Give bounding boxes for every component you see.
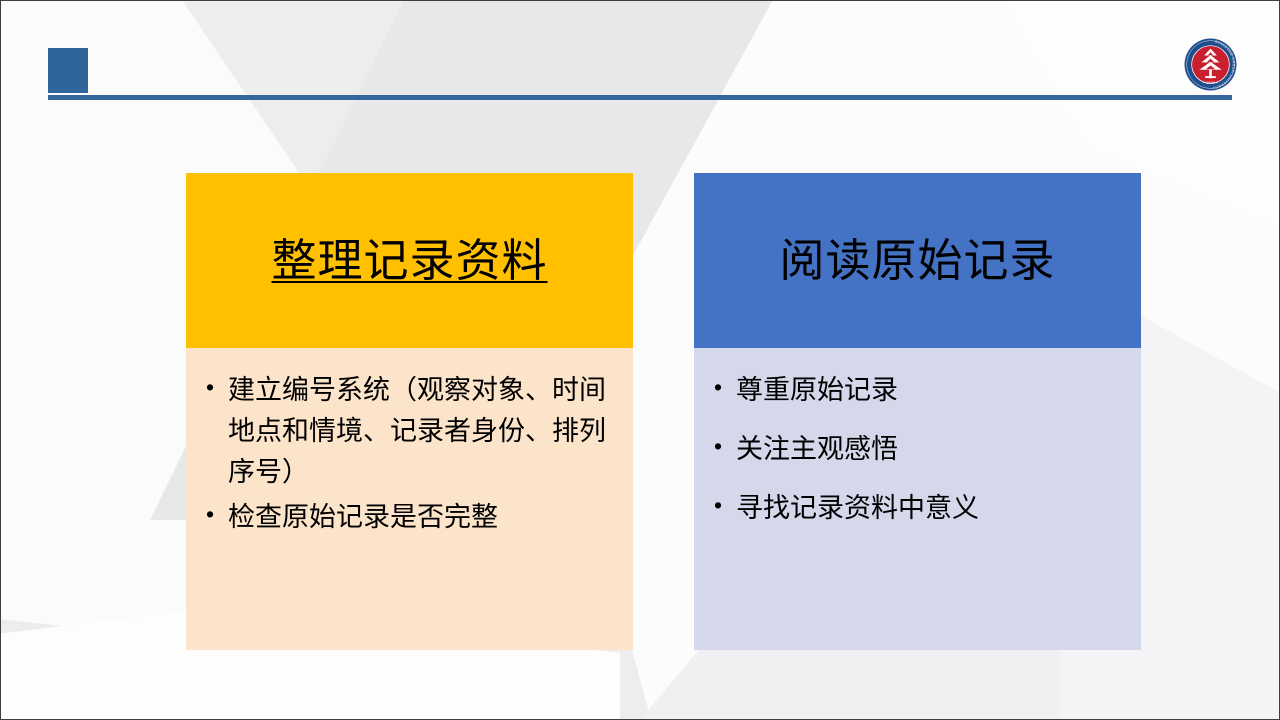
bullet-list-left: 建立编号系统（观察对象、时间地点和情境、记录者身份、排列序号） 检查原始记录是否… [200,370,619,538]
header-accent-square [48,48,88,93]
card-title-right: 阅读原始记录 [779,236,1055,286]
card-title-left: 整理记录资料 [271,236,547,286]
list-item: 寻找记录资料中意义 [708,488,1127,529]
card-read-raw-records: 阅读原始记录 尊重原始记录 关注主观感悟 寻找记录资料中意义 [694,173,1141,650]
card-body-left: 建立编号系统（观察对象、时间地点和情境、记录者身份、排列序号） 检查原始记录是否… [186,348,633,650]
card-header-right: 阅读原始记录 [694,173,1141,348]
list-item: 建立编号系统（观察对象、时间地点和情境、记录者身份、排列序号） [200,370,619,493]
presentation-slide: 1999 SHANDONG YINGCAI UNIVERSITY 整理记录资料 … [0,0,1280,720]
card-organize-records: 整理记录资料 建立编号系统（观察对象、时间地点和情境、记录者身份、排列序号） 检… [186,173,633,650]
list-item: 尊重原始记录 [708,370,1127,411]
bullet-list-right: 尊重原始记录 关注主观感悟 寻找记录资料中意义 [708,370,1127,529]
list-item: 关注主观感悟 [708,429,1127,470]
card-header-left: 整理记录资料 [186,173,633,348]
header-divider-rule [48,95,1232,100]
university-logo-icon: 1999 SHANDONG YINGCAI UNIVERSITY [1184,38,1237,91]
svg-text:1999: 1999 [1206,80,1216,85]
list-item: 检查原始记录是否完整 [200,497,619,538]
card-body-right: 尊重原始记录 关注主观感悟 寻找记录资料中意义 [694,348,1141,650]
